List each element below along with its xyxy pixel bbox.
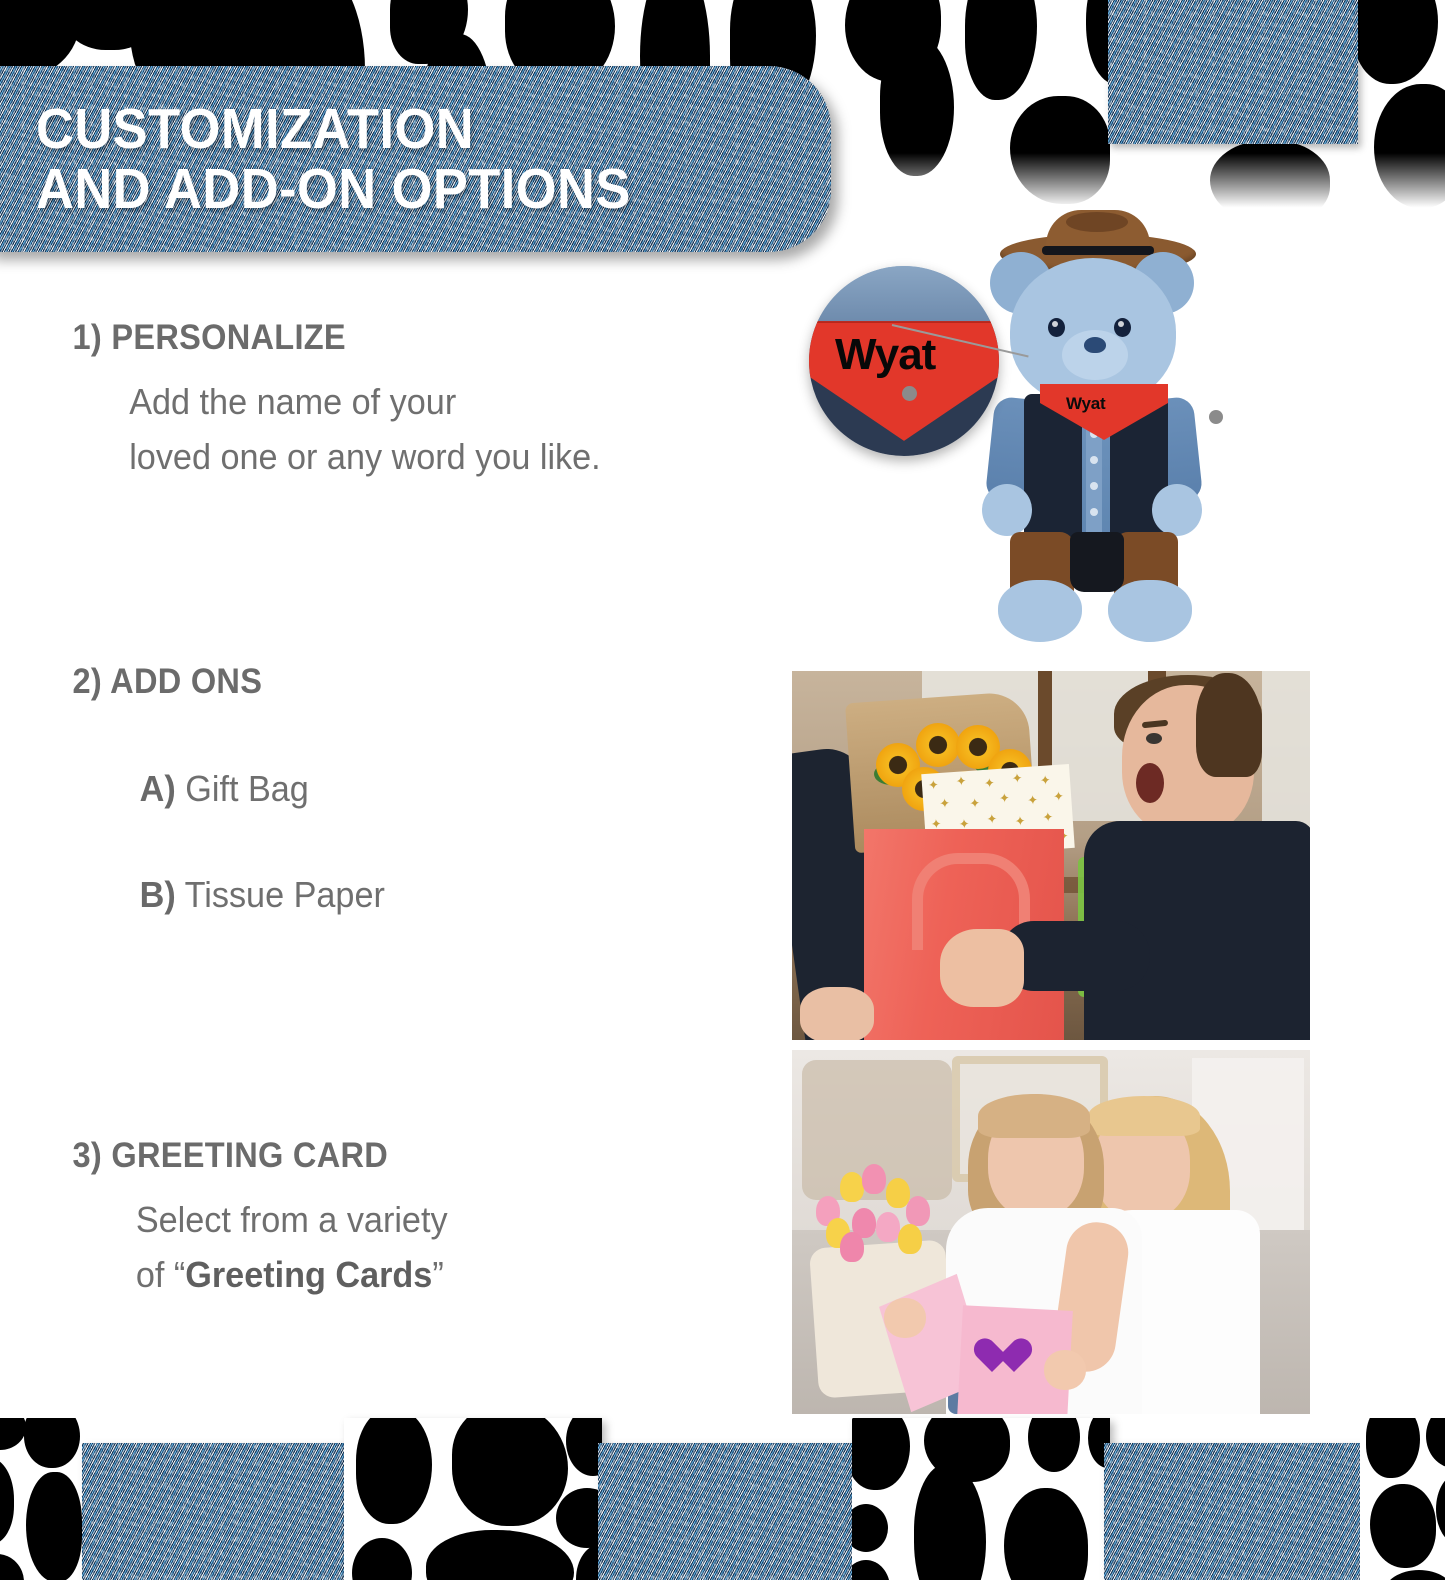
- teddy-bear-illustration: Wyat: [962, 212, 1292, 642]
- addon-b-prefix: B): [140, 874, 176, 915]
- step-1-body-line-2: loved one or any word you like.: [129, 429, 722, 484]
- magnifier-fur-area: [809, 266, 999, 325]
- daughter-hand-left: [884, 1298, 926, 1338]
- bear-paw-right: [1152, 484, 1202, 536]
- adult-hand: [800, 987, 874, 1040]
- boy-eye: [1146, 733, 1162, 744]
- step-3-quote-close: ”: [432, 1254, 443, 1295]
- bear-shorts: [1070, 532, 1124, 592]
- bottom-denim-panel-2: [598, 1443, 854, 1580]
- addon-a-label: Gift Bag: [185, 768, 309, 809]
- boy-hand: [940, 929, 1024, 1007]
- addon-option-tissue-paper[interactable]: B) Tissue Paper: [0, 812, 722, 918]
- mother-hair-front: [1088, 1096, 1200, 1136]
- step-2-heading: 2) ADD ONS: [0, 662, 707, 702]
- bottom-cow-panel-3: [852, 1418, 1110, 1580]
- bottom-denim-panel-3: [1104, 1443, 1362, 1580]
- photo-personalized-teddy-bear: Wyat Wyat: [792, 196, 1312, 656]
- page-title-line-1: CUSTOMIZATION: [36, 99, 767, 159]
- step-3-heading: 3) GREETING CARD: [0, 1136, 707, 1176]
- step-greeting-card: 3) GREETING CARD Select from a variety o…: [0, 1136, 760, 1302]
- magnifier-origin-dot: [902, 386, 917, 401]
- boy-open-mouth: [1136, 763, 1164, 803]
- bear-nose: [1084, 337, 1106, 353]
- bear-foot-right: [1108, 580, 1192, 642]
- step-3-strong-text: Greeting Cards: [185, 1254, 432, 1295]
- step-personalize: 1) PERSONALIZE Add the name of your love…: [0, 318, 760, 484]
- magnifier-personalized-name: Wyat: [835, 330, 935, 380]
- top-denim-swatch: [1108, 0, 1358, 144]
- magnifier-bandana-closeup: Wyat: [809, 266, 999, 456]
- addon-a-prefix: A): [140, 768, 176, 809]
- addon-b-label: Tissue Paper: [185, 874, 385, 915]
- bottom-denim-panel-1: [82, 1443, 344, 1580]
- cowboy-hat-dent: [1066, 212, 1128, 232]
- addon-option-gift-bag[interactable]: A) Gift Bag: [0, 702, 722, 812]
- daughter-hand-right: [1044, 1350, 1086, 1390]
- bottom-cow-panel-1: [0, 1418, 86, 1580]
- heart-icon: [982, 1340, 1022, 1376]
- daughter-hair-front: [978, 1094, 1090, 1138]
- tulip-bouquet: [810, 1156, 936, 1252]
- step-1-heading: 1) PERSONALIZE: [0, 318, 707, 358]
- callout-anchor-dot: [1209, 410, 1223, 424]
- sunflower: [916, 723, 960, 767]
- bandana-personalized-name: Wyat: [1066, 394, 1106, 414]
- step-3-body-line-1: Select from a variety: [136, 1192, 722, 1247]
- step-3-body-line-2: of “Greeting Cards”: [136, 1247, 722, 1302]
- bear-paw-left: [982, 484, 1032, 536]
- page-title-banner: CUSTOMIZATION AND ADD-ON OPTIONS: [0, 66, 831, 252]
- step-1-body-line-1: Add the name of your: [129, 374, 722, 429]
- boy-hair-side: [1196, 673, 1262, 777]
- bottom-cow-panel-2: [344, 1418, 602, 1580]
- step-3-quote-open: of “: [136, 1254, 185, 1295]
- bear-eye-right: [1114, 318, 1131, 337]
- bottom-border-strip: [0, 1400, 1445, 1580]
- photo-mother-daughter-greeting-card: [792, 1050, 1310, 1414]
- bear-foot-left: [998, 580, 1082, 642]
- step-add-ons: 2) ADD ONS A) Gift Bag B) Tissue Paper: [0, 662, 760, 918]
- photo-boy-receiving-gift-bag: ✦ ✦ ✦ ✦ ✦ ✦ ✦ ✦ ✦ ✦ ✦ ✦ ✦ ✦ ✦ ✦ ✦ ✦ ✦ ✦: [792, 671, 1310, 1040]
- bear-eye-left: [1048, 318, 1065, 337]
- page-title-line-2: AND ADD-ON OPTIONS: [36, 159, 767, 219]
- bottom-cow-panel-4: [1360, 1418, 1445, 1580]
- cowboy-hat-band: [1042, 246, 1154, 255]
